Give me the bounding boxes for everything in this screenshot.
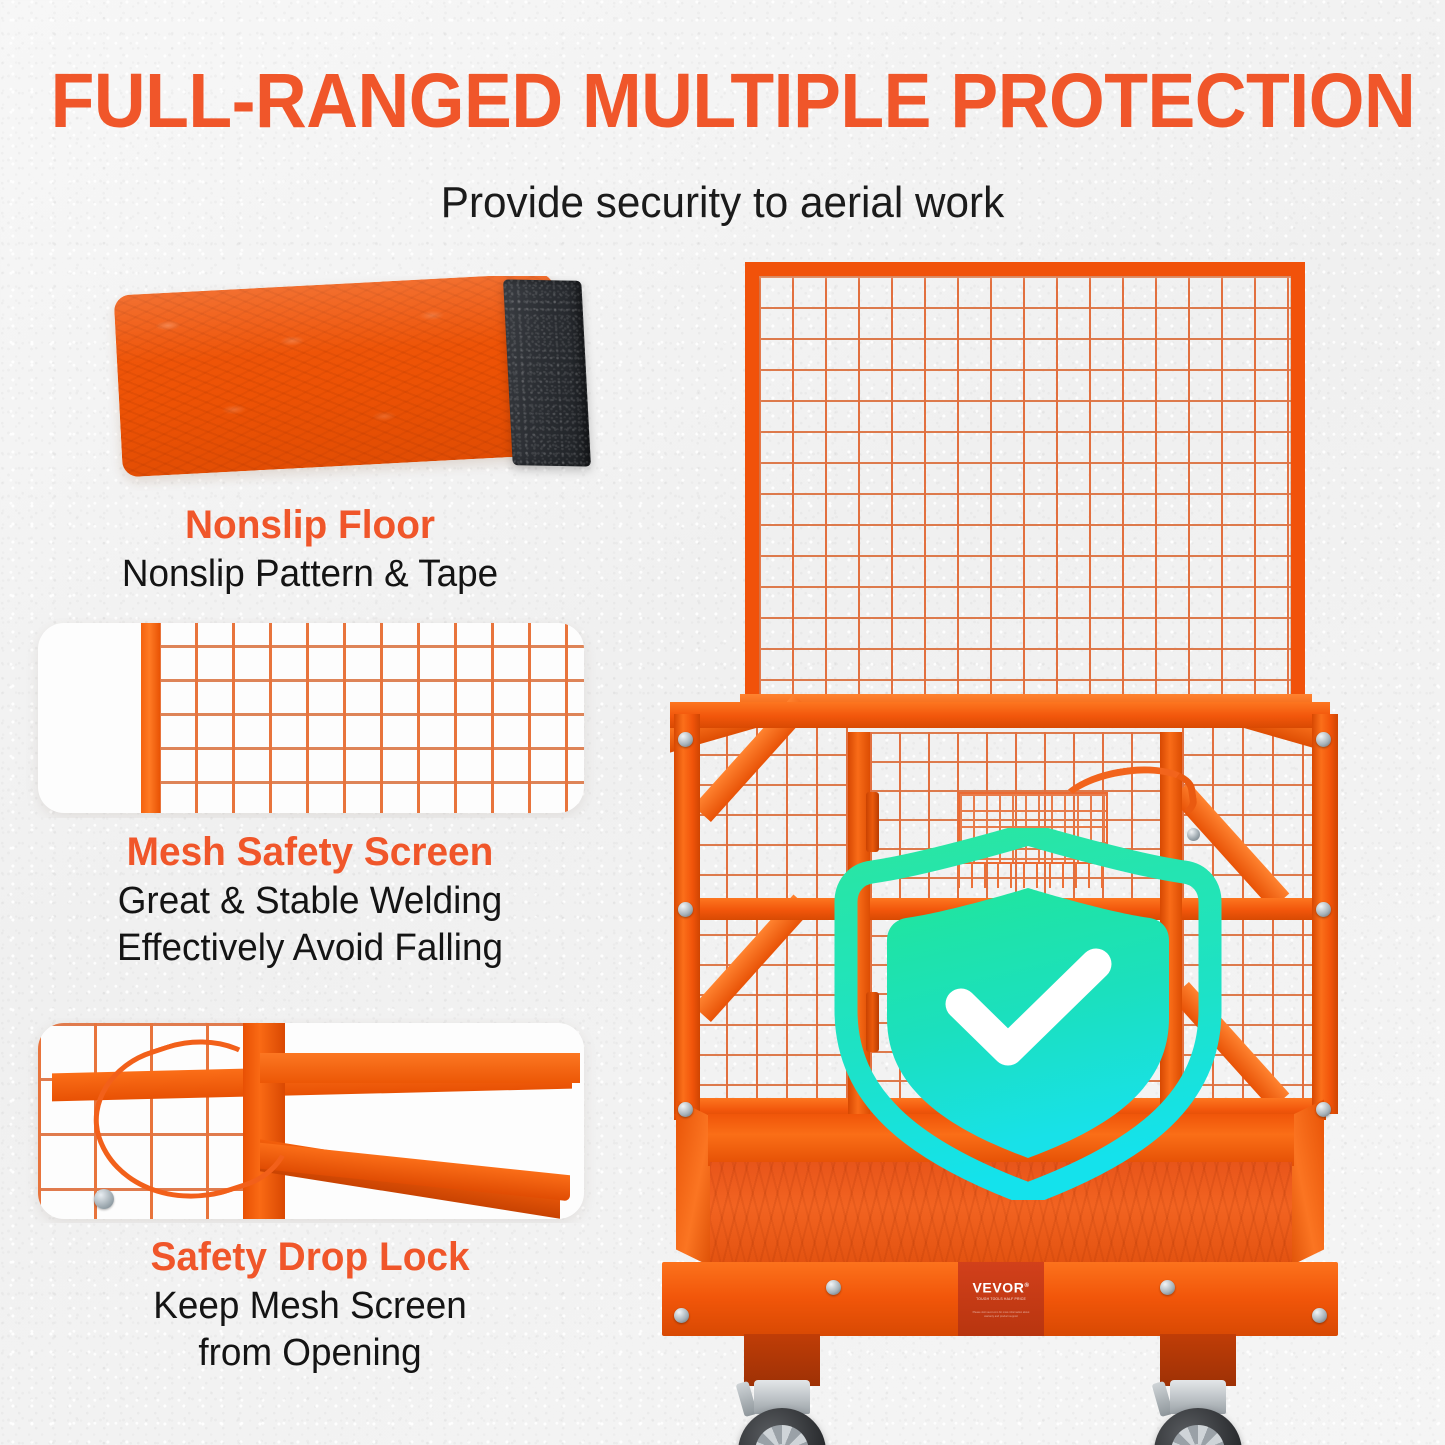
page-subtitle: Provide security to aerial work [29,175,1416,231]
feature-desc-lock-line2: from Opening [29,1330,592,1377]
feature-desc-mesh-line2: Effectively Avoid Falling [29,925,592,972]
vevor-wordmark: VEVOR [972,1280,1024,1296]
bolt-icon [1312,1308,1327,1323]
drop-lock-photo-card [38,1023,584,1219]
bolt-icon [826,1280,841,1295]
vevor-logo-text: VEVOR® [972,1279,1029,1295]
caster-mount-leg-right [1160,1334,1236,1386]
vevor-brand-label: VEVOR® TOUGH TOOLS HALF PRICE Please vis… [958,1262,1044,1336]
bolt-icon [1316,902,1331,917]
infographic-canvas: FULL-RANGED MULTIPLE PROTECTION Provide … [0,0,1445,1445]
vevor-tagline: TOUGH TOOLS HALF PRICE [976,1297,1026,1302]
feature-block-mesh-safety-screen: Mesh Safety Screen Great & Stable Weldin… [20,618,600,972]
feature-title-mesh-safety-screen: Mesh Safety Screen [29,826,592,878]
bolt-icon [678,1102,693,1117]
bolt-icon [678,732,693,747]
lock-arm-rail-icon [260,1053,580,1083]
bolt-icon [1316,732,1331,747]
feature-desc-lock-line1: Keep Mesh Screen [29,1283,592,1330]
diamond-plate-floor-icon [114,276,563,477]
top-rail [670,702,1330,728]
feature-title-safety-drop-lock: Safety Drop Lock [29,1231,592,1283]
back-mesh-guard-panel [745,262,1305,714]
registered-trademark-mark: ® [1024,1283,1029,1289]
feature-title-nonslip-floor: Nonslip Floor [29,499,592,551]
mesh-frame-bar-icon [141,623,160,813]
wire-mesh-grid-icon [158,623,584,813]
bolt-icon [678,902,693,917]
feature-block-safety-drop-lock: Safety Drop Lock Keep Mesh Screen from O… [20,1018,600,1377]
bolt-icon [1316,1102,1331,1117]
bolt-icon [1160,1280,1175,1295]
caster-mount-leg-left [744,1334,820,1386]
page-title: FULL-RANGED MULTIPLE PROTECTION [51,58,1395,144]
feature-desc-mesh-line1: Great & Stable Welding [29,878,592,925]
mesh-safety-screen-image [20,618,600,818]
mesh-photo-card [38,623,584,813]
safety-drop-lock-image [20,1018,600,1223]
nonslip-floor-image [20,276,600,491]
lock-bolt-icon [94,1189,114,1209]
feature-block-nonslip-floor: Nonslip Floor Nonslip Pattern & Tape [20,276,600,598]
vevor-fine-print: Please visit vevor.com for more informat… [969,1311,1033,1319]
safety-verified-shield-badge [828,828,1228,1200]
feature-desc-nonslip-floor: Nonslip Pattern & Tape [29,551,592,598]
bolt-icon [674,1308,689,1323]
grip-tape-strip-icon [503,279,591,466]
